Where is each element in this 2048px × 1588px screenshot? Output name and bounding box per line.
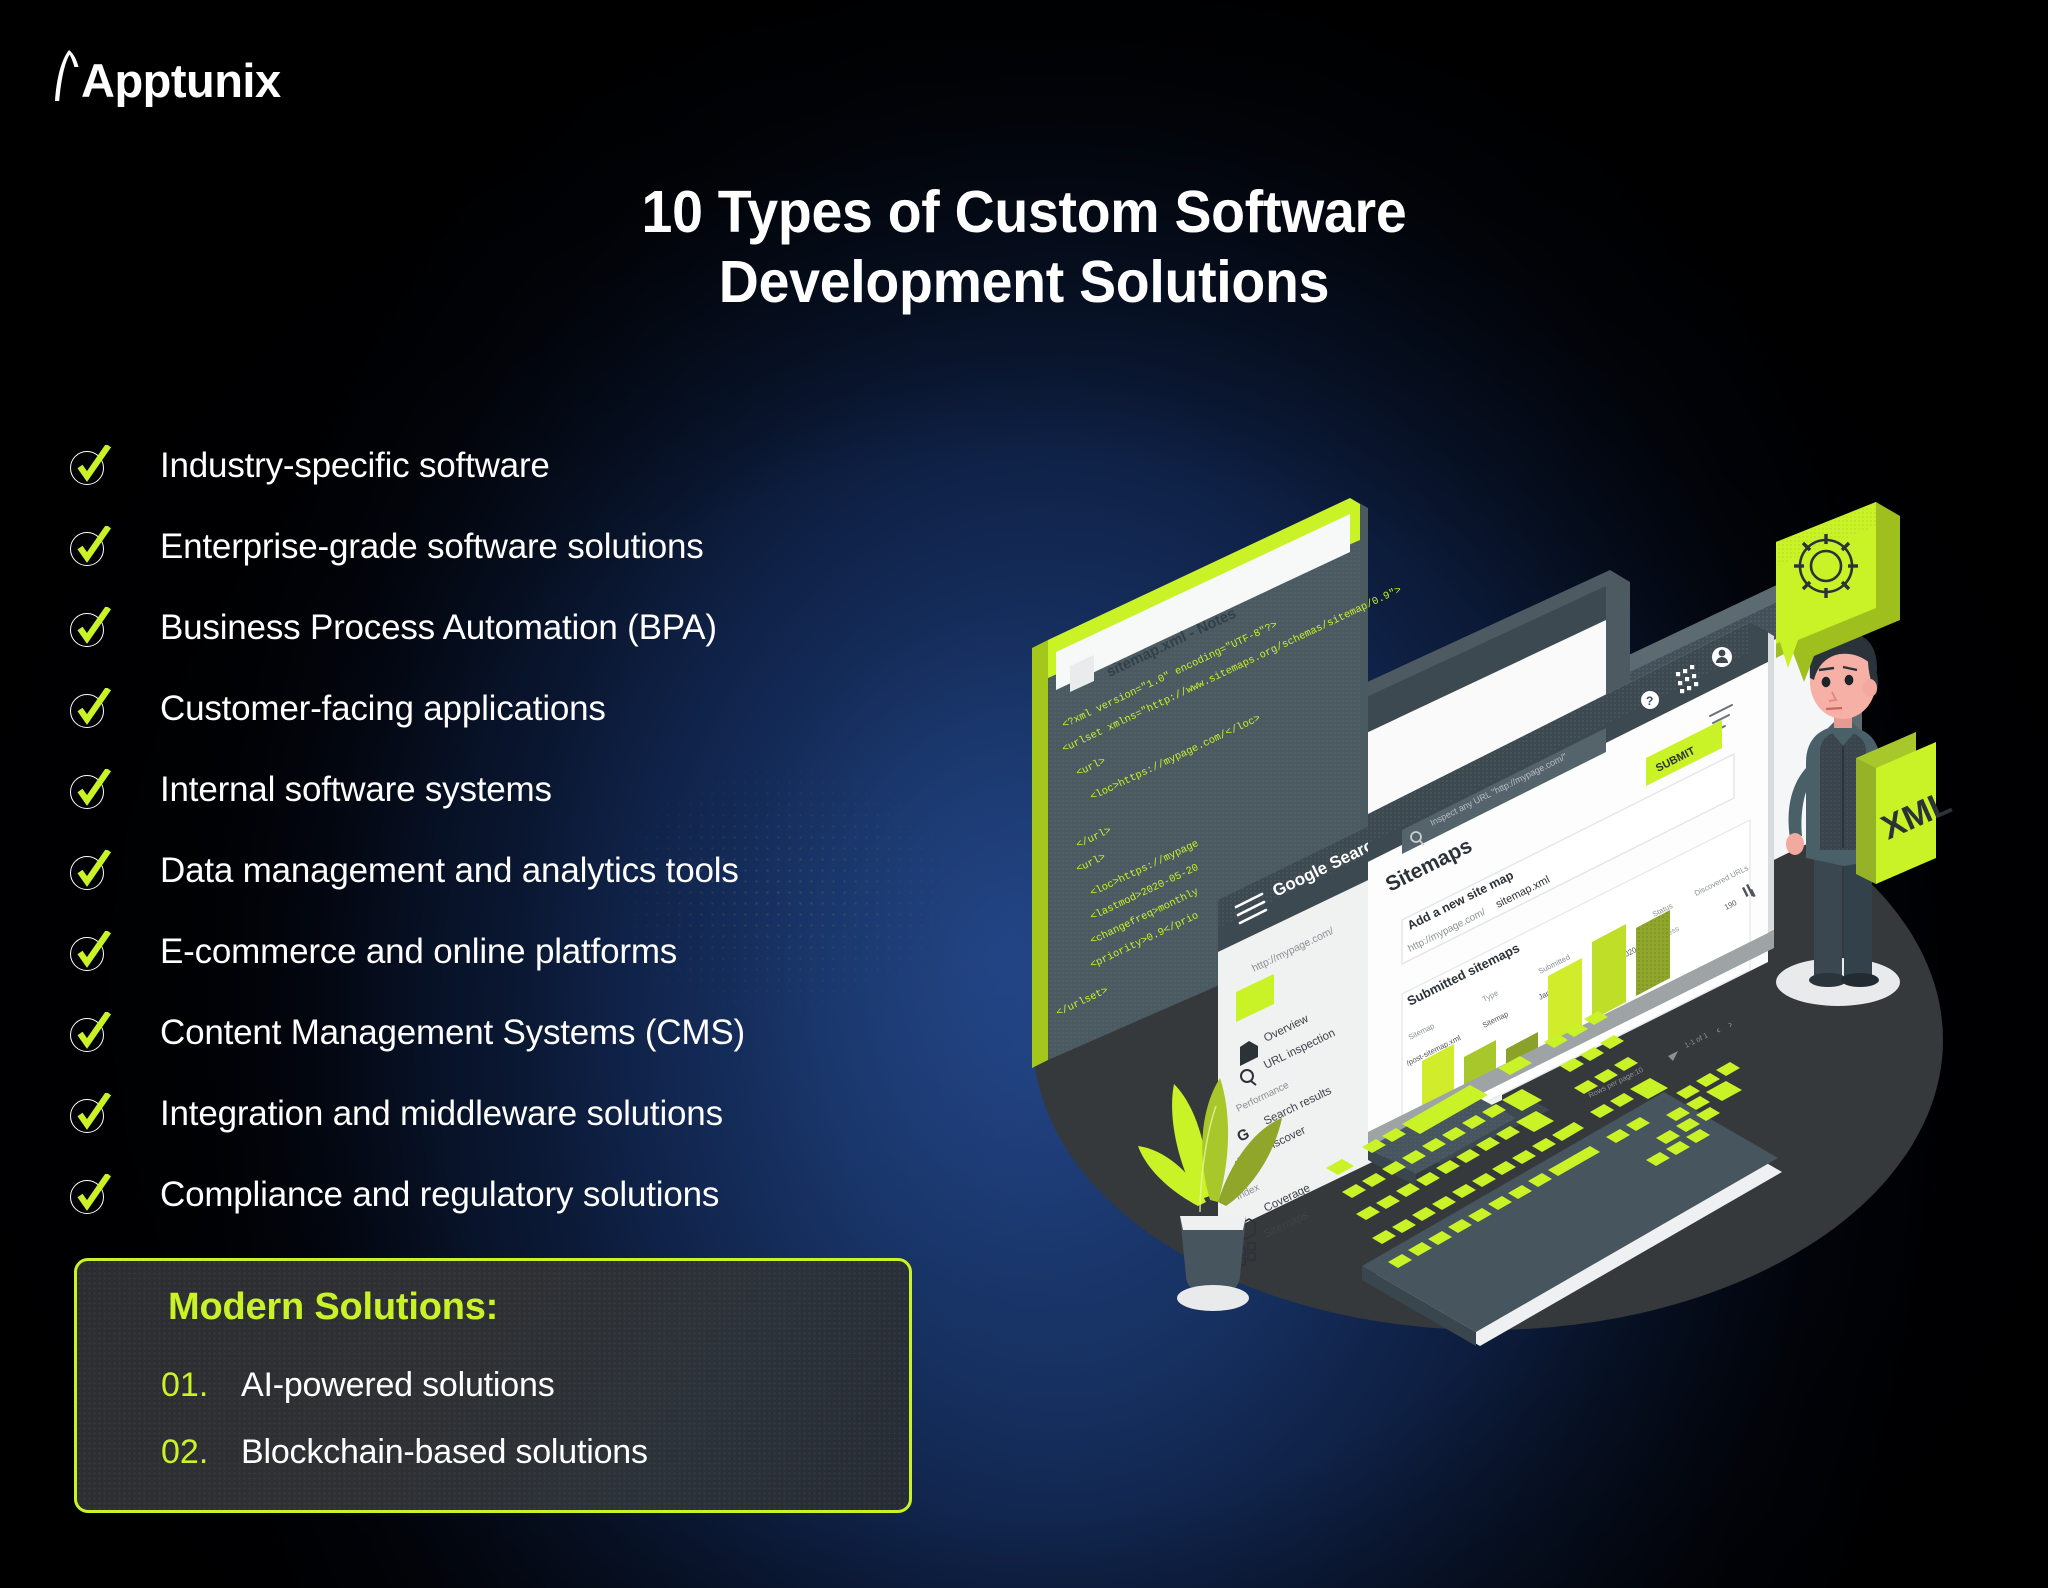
list-item: Industry-specific software — [62, 425, 942, 506]
apptunix-arch-mark-icon — [52, 46, 86, 104]
check-circle-icon — [68, 526, 110, 568]
modern-solutions-item: 02. Blockchain-based solutions — [161, 1433, 648, 1472]
list-item: E-commerce and online platforms — [62, 911, 942, 992]
list-item-label: Business Process Automation (BPA) — [160, 608, 717, 648]
page-title: 10 Types of Custom Software Development … — [0, 178, 2048, 317]
check-circle-icon — [68, 1174, 110, 1216]
check-circle-icon — [68, 769, 110, 811]
list-item-label: E-commerce and online platforms — [160, 932, 677, 972]
check-circle-icon — [68, 445, 110, 487]
list-item: Compliance and regulatory solutions — [62, 1154, 942, 1235]
brand-name: Apptunix — [81, 57, 281, 104]
list-item-label: Data management and analytics tools — [160, 851, 739, 891]
list-item: Content Management Systems (CMS) — [62, 992, 942, 1073]
modern-solutions-heading: Modern Solutions: — [168, 1286, 498, 1329]
list-item: Internal software systems — [62, 749, 942, 830]
modern-solutions-item-label: AI-powered solutions — [241, 1366, 555, 1405]
list-item: Customer-facing applications — [62, 668, 942, 749]
isometric-illustration: sitemap.xml - Notes <?xml version="1.0" … — [1050, 500, 1970, 1460]
list-item: Business Process Automation (BPA) — [62, 587, 942, 668]
check-circle-icon — [68, 1012, 110, 1054]
page-title-line-1: 10 Types of Custom Software — [61, 178, 1986, 248]
check-circle-icon — [68, 1093, 110, 1135]
list-item-label: Industry-specific software — [160, 446, 550, 486]
list-item-label: Enterprise-grade software solutions — [160, 527, 704, 567]
svg-text:?: ? — [1646, 694, 1653, 708]
modern-solutions-item: 01. AI-powered solutions — [161, 1366, 555, 1405]
list-item: Integration and middleware solutions — [62, 1073, 942, 1154]
help-circle-icon: ? — [1641, 691, 1659, 709]
check-circle-icon — [68, 931, 110, 973]
list-item-label: Customer-facing applications — [160, 689, 606, 729]
modern-solutions-panel: Modern Solutions: 01. AI-powered solutio… — [74, 1258, 912, 1513]
xml-card: XML — [1856, 732, 1957, 884]
list-item: Enterprise-grade software solutions — [62, 506, 942, 587]
list-item: Data management and analytics tools — [62, 830, 942, 911]
check-circle-icon — [68, 607, 110, 649]
check-circle-icon — [68, 850, 110, 892]
checklist: Industry-specific software Enterprise-gr… — [62, 425, 942, 1235]
modern-solutions-item-label: Blockchain-based solutions — [241, 1433, 648, 1472]
list-item-label: Internal software systems — [160, 770, 552, 810]
brand-logo[interactable]: Apptunix — [52, 46, 281, 104]
list-item-label: Compliance and regulatory solutions — [160, 1175, 719, 1215]
modern-solutions-item-number: 02. — [161, 1433, 227, 1472]
page-title-line-2: Development Solutions — [61, 248, 1986, 318]
modern-solutions-item-number: 01. — [161, 1366, 227, 1405]
list-item-label: Integration and middleware solutions — [160, 1094, 723, 1134]
check-circle-icon — [68, 688, 110, 730]
avatar-icon — [1712, 647, 1732, 667]
list-item-label: Content Management Systems (CMS) — [160, 1013, 745, 1053]
